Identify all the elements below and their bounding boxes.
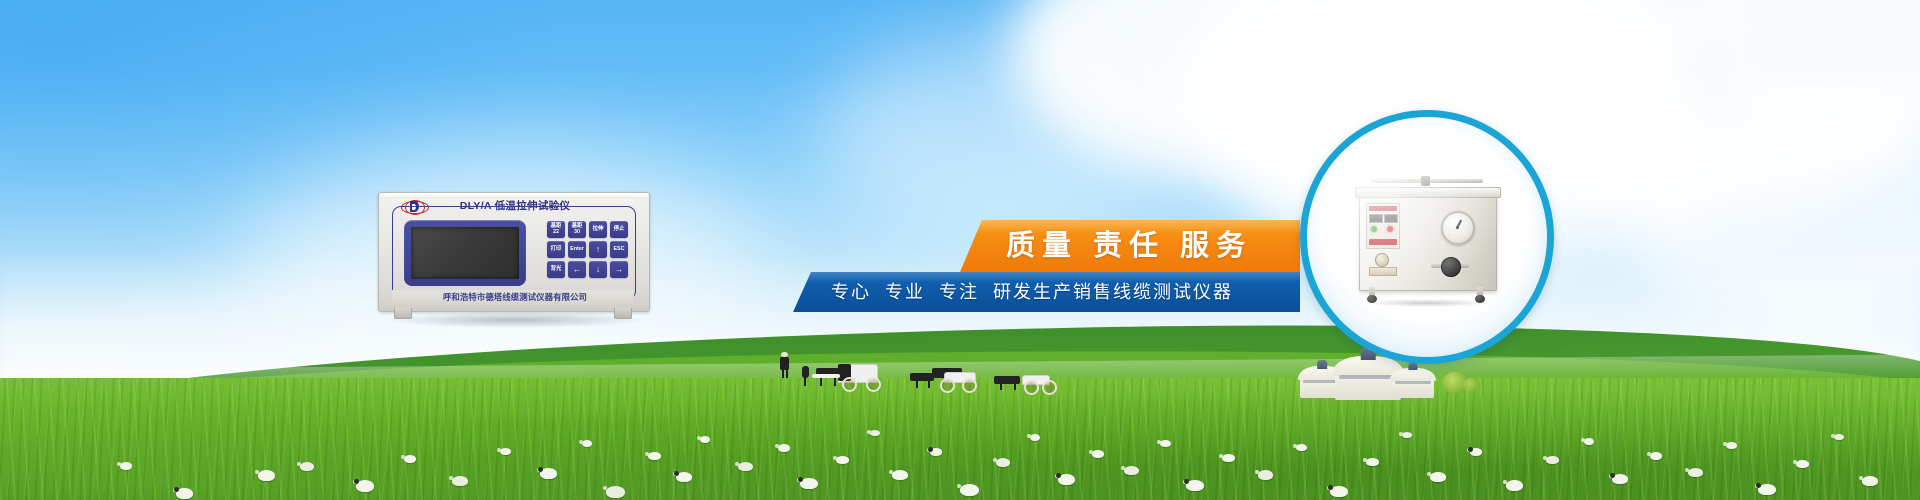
machine-brass-knob [1375, 253, 1389, 267]
sheep [1124, 466, 1139, 475]
device-company-name: 呼和浩特市德塔线缆测试仪器有限公司 [419, 290, 611, 304]
sheep [800, 478, 818, 489]
orange-banner-text: 质量 责任 服务 [1006, 220, 1252, 272]
sheep [1584, 438, 1594, 445]
key-arrow-up[interactable]: ↑ [589, 241, 607, 258]
machine-caster-left [1367, 287, 1377, 303]
sheep [1296, 444, 1307, 451]
sheep [676, 472, 692, 482]
sheep [1546, 456, 1559, 464]
sheep [606, 486, 625, 498]
machine-lid [1355, 187, 1501, 198]
key-print[interactable]: 打印 [547, 241, 565, 258]
instrument-device: DLY/A 低温拉伸试验仪 基距 22 基距 30 拉伸 停止 打印 Enter… [378, 192, 648, 327]
sheep [1366, 458, 1379, 466]
machine-nameplate [1369, 267, 1397, 276]
sheep [1796, 460, 1809, 468]
slogan-3: 专注 [939, 282, 979, 302]
sheep [176, 488, 193, 499]
sheep [1834, 434, 1844, 440]
device-screen-bezel [404, 220, 526, 286]
panel-label-top [1369, 206, 1397, 211]
herder-figure [778, 352, 792, 378]
sheep [1758, 484, 1776, 495]
sheep [540, 468, 557, 479]
sheep [892, 470, 908, 480]
sheep [582, 440, 592, 447]
grass-texture-overlay [0, 378, 1920, 500]
machine-valve-bar [1431, 264, 1469, 268]
device-keypad[interactable]: 基距 22 基距 30 拉伸 停止 打印 Enter ↑ ESC 背光 ← ↓ … [547, 221, 629, 283]
pressure-gauge-icon [1441, 211, 1475, 245]
machine-caster-right [1475, 287, 1485, 303]
sheep [930, 448, 942, 456]
sheep [1430, 472, 1446, 482]
sheep [870, 430, 880, 436]
machine-control-panel [1366, 203, 1400, 249]
cloud [820, 30, 1180, 240]
device-foot-left [394, 308, 412, 319]
device-body: DLY/A 低温拉伸试验仪 基距 22 基距 30 拉伸 停止 打印 Enter… [378, 192, 650, 312]
sheep [452, 476, 468, 486]
sheep [1058, 474, 1075, 485]
blue-banner-text: 专心专业专注研发生产销售线缆测试仪器 [831, 272, 1233, 312]
panel-led-green [1371, 226, 1377, 232]
blue-banner-tagline: 研发生产销售线缆测试仪器 [993, 282, 1233, 302]
sheep [356, 480, 374, 492]
key-backlight[interactable]: 背光 [547, 261, 565, 278]
sheep [960, 484, 979, 496]
sheep [1186, 480, 1204, 491]
ox-cart [988, 372, 1068, 396]
sheep [1092, 450, 1104, 458]
product-machine-image [1349, 175, 1505, 303]
sheep [1726, 442, 1737, 449]
sheep [836, 456, 849, 464]
sheep [1258, 470, 1273, 480]
sheep [1222, 454, 1235, 462]
device-foot-right [614, 308, 632, 319]
key-stop[interactable]: 停止 [610, 221, 628, 238]
sheep [648, 452, 661, 460]
sheep [300, 462, 314, 471]
sheep [1506, 480, 1523, 491]
key-arrow-down[interactable]: ↓ [589, 261, 607, 278]
bush [1462, 378, 1480, 393]
slogan-1: 专心 [831, 282, 871, 302]
key-esc[interactable]: ESC [610, 241, 628, 258]
sheep [500, 448, 511, 455]
sheep [738, 462, 753, 471]
sheep [1402, 432, 1412, 438]
sheep [1030, 434, 1040, 441]
panel-display-1 [1369, 214, 1383, 223]
promo-banner: DLY/A 低温拉伸试验仪 基距 22 基距 30 拉伸 停止 打印 Enter… [0, 0, 1920, 500]
circle-ring [1300, 110, 1554, 364]
panel-display-2 [1384, 214, 1398, 223]
key-jiju-30[interactable]: 基距 30 [568, 221, 586, 238]
panel-label-bottom [1369, 239, 1397, 245]
key-stretch[interactable]: 拉伸 [589, 221, 607, 238]
key-jiju-22[interactable]: 基距 22 [547, 221, 565, 238]
sheep [1160, 440, 1171, 447]
product-photo-circle[interactable] [1300, 110, 1540, 350]
sheep [120, 462, 132, 470]
machine-shadow [1365, 299, 1489, 307]
sheep [258, 470, 275, 481]
sheep [1688, 468, 1703, 477]
sheep [1470, 448, 1482, 456]
sheep [1330, 486, 1348, 497]
sheep [1612, 474, 1628, 484]
sheep [778, 444, 790, 452]
key-arrow-right[interactable]: → [610, 261, 628, 278]
slogan-2: 专业 [885, 282, 925, 302]
sheep [404, 455, 416, 463]
sheep [700, 436, 710, 443]
machine-handle-knob [1421, 176, 1430, 186]
sheep [1862, 476, 1878, 486]
device-shadow [384, 312, 646, 328]
machine-valve-knob [1441, 257, 1461, 277]
machine-cabinet [1359, 193, 1497, 291]
ox-cart [900, 366, 992, 394]
key-enter[interactable]: Enter [568, 241, 586, 258]
machine-handle-bar [1371, 179, 1483, 183]
sheep [996, 458, 1010, 467]
sheep [1650, 452, 1662, 460]
panel-led-red [1387, 226, 1393, 232]
ox-cart [790, 360, 900, 392]
key-arrow-left[interactable]: ← [568, 261, 586, 278]
device-lcd-screen [411, 227, 519, 279]
yurt [1392, 368, 1434, 398]
